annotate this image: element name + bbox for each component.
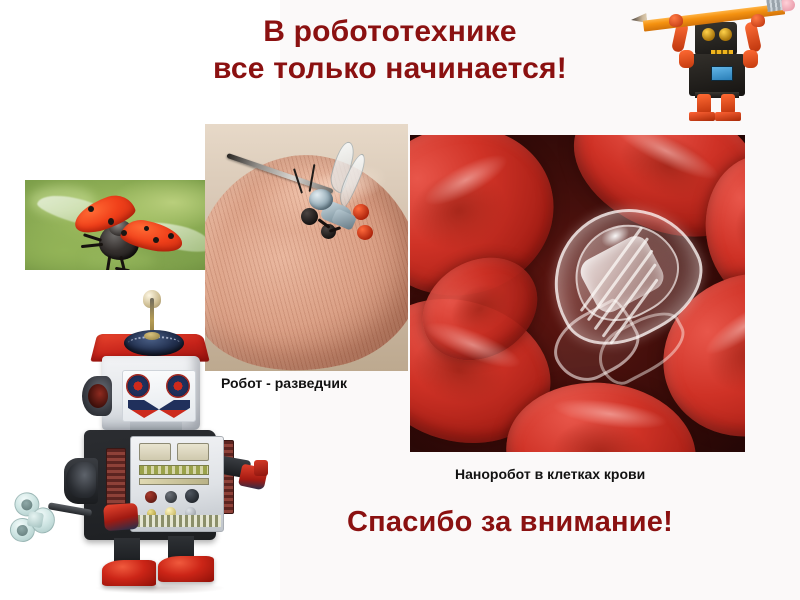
panel-gauge	[177, 443, 209, 461]
panel-knob	[145, 491, 157, 503]
pencil-eraser	[781, 0, 795, 12]
caption-nano-robot: Наноробот в клетках крови	[455, 466, 645, 482]
robot-foot-left	[102, 560, 156, 586]
robot-eye-right	[166, 374, 190, 398]
panel-meter-bar	[139, 465, 209, 475]
closing-text: Спасибо за внимание!	[285, 506, 735, 539]
panel-meter-bar	[139, 478, 209, 485]
robot-eye-right	[719, 28, 732, 41]
robot-shoulder-left	[66, 462, 96, 498]
robot-foot-right	[158, 556, 214, 582]
nanorobot-image	[410, 135, 745, 452]
slide-title: В робототехнике все только начинается!	[120, 14, 660, 88]
presentation-slide: В робототехнике все только начинается!	[0, 0, 800, 600]
ladybug-spot	[144, 226, 149, 231]
robot-eye-left	[702, 28, 715, 41]
robot-gripper-right	[254, 460, 268, 476]
panel-gauge	[139, 443, 171, 461]
pencil-robot-image	[655, 0, 800, 124]
ladybug-leg	[83, 233, 102, 242]
panel-vent-strip	[137, 515, 221, 527]
ladybug-spot	[108, 218, 114, 225]
robot-ear-hole	[88, 384, 108, 408]
robot-head	[309, 189, 333, 210]
robot-shoulder-left	[679, 50, 694, 68]
panel-knob	[165, 491, 177, 503]
ladybug-spot	[153, 237, 159, 243]
antenna-base	[144, 332, 160, 340]
key-center	[27, 511, 44, 528]
robot-wheel	[357, 225, 373, 240]
robot-foot-left	[689, 112, 715, 121]
tin-windup-robot-image	[18, 310, 268, 600]
robot-chest-screen	[711, 66, 733, 81]
panel-knob	[185, 489, 199, 503]
windup-key	[8, 488, 63, 549]
ladybug-spot	[121, 230, 127, 236]
robot-hand-right	[751, 14, 765, 27]
ladybug-spot	[88, 206, 94, 212]
robot-hand-left	[103, 503, 139, 531]
robot-hand-left	[669, 14, 683, 27]
robot-shoulder-right	[743, 50, 758, 68]
robot-wheel	[301, 208, 318, 225]
robot-control-panel	[130, 436, 224, 532]
robot-leg-right	[721, 94, 735, 114]
robot-eye-left	[126, 374, 150, 398]
robot-foot-right	[715, 112, 741, 121]
ladybug-image	[25, 180, 205, 270]
ladybug-spot	[168, 233, 174, 239]
robot-leg-left	[697, 94, 711, 114]
